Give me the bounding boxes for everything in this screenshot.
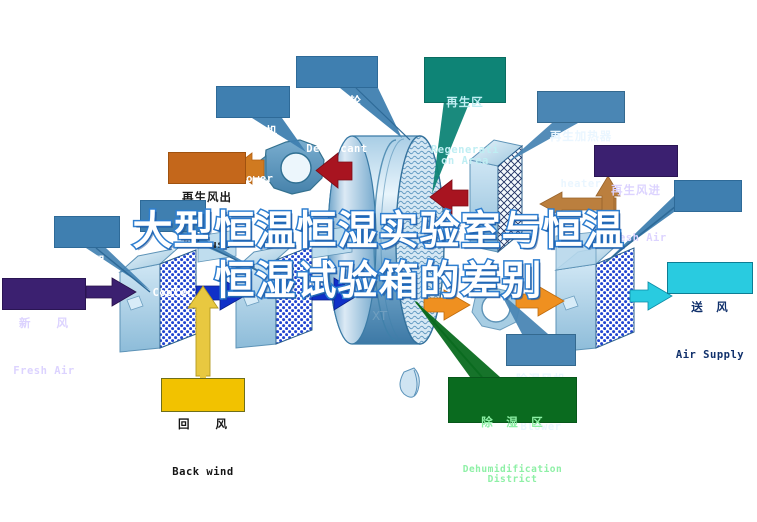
- label-regeneration-area-en: Regenerati on Area: [425, 145, 505, 169]
- label-regeneration-blower: 再生风机 Blower: [216, 86, 290, 118]
- label-back-wind: 回 风 Back wind: [161, 378, 245, 412]
- label-regeneration-area: 再生区 Regenerati on Area: [424, 57, 506, 103]
- svg-text:XT: XT: [372, 309, 388, 323]
- label-back-wind-cn: 回 风: [162, 418, 244, 431]
- label-dehumidification-district-en: Dehumidification District: [449, 465, 576, 486]
- label-cooler-left-near-en: Cooler: [141, 288, 205, 300]
- label-regeneration-fresh-air-en: Fresh Air: [595, 233, 677, 245]
- label-dehumidification-blower: 除湿风机 Blower: [506, 334, 576, 366]
- label-air-supply-en: Air Supply: [668, 350, 752, 362]
- label-regeneration-fresh-air-cn: 再生风进: [595, 184, 677, 197]
- cooler-coil-2: [236, 244, 312, 348]
- label-fresh-air-en: Fresh Air: [3, 366, 85, 378]
- label-regeneration-heater-cn: 再生加热器: [538, 130, 624, 143]
- label-regeneration-blower-cn: 再生风机: [217, 125, 289, 138]
- label-regeneration-heater: 再生加热器 heater: [537, 91, 625, 123]
- label-exhaust: 再生风出 Exhaust: [168, 152, 246, 184]
- label-air-supply-cn: 送 风: [668, 301, 752, 314]
- label-cooler-right-cn: 冷却器: [675, 219, 741, 232]
- label-regeneration-area-cn: 再生区: [425, 96, 505, 109]
- label-fresh-air-cn: 新 风: [3, 317, 85, 330]
- label-desiccant-wheel-en: Desiccant: [297, 144, 377, 156]
- label-cooler-right: 冷却器 Cooler: [674, 180, 742, 212]
- label-air-supply: 送 风 Air Supply: [667, 262, 753, 294]
- label-desiccant-wheel: 除湿转轮 Desiccant: [296, 56, 378, 88]
- label-desiccant-wheel-cn: 除湿转轮: [297, 95, 377, 108]
- label-dehumidification-district-cn: 除 湿 区: [449, 416, 576, 429]
- label-cooler-left-near-cn: 冷却器: [141, 239, 205, 252]
- condensate-drain: [400, 368, 419, 397]
- label-cooler-left-far: 冷却器 Cooler: [54, 216, 120, 248]
- label-dehumidification-district: 除 湿 区 Dehumidification District: [448, 377, 577, 423]
- label-regeneration-fresh-air: 再生风进 Fresh Air: [594, 145, 678, 177]
- label-cooler-left-far-cn: 冷却器: [55, 255, 119, 268]
- label-fresh-air: 新 风 Fresh Air: [2, 278, 86, 310]
- label-back-wind-en: Back wind: [162, 467, 244, 479]
- diagram-canvas: XT: [0, 0, 757, 488]
- air-supply-arrow: [630, 282, 672, 310]
- label-cooler-left-near: 冷却器 Cooler: [140, 200, 206, 232]
